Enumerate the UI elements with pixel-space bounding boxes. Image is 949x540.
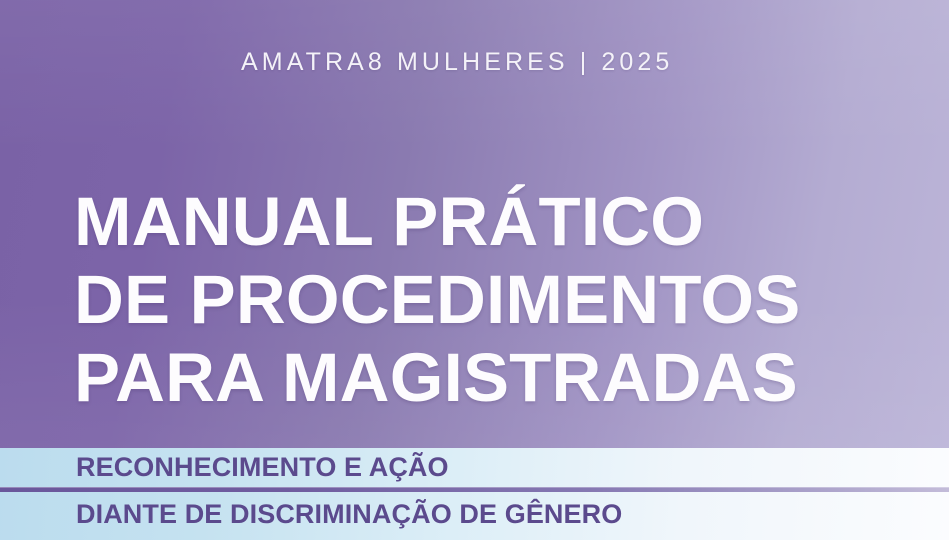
cover-title-line-3: PARA MAGISTRADAS: [74, 339, 894, 417]
divider-highlight: [0, 487, 949, 488]
cover-eyebrow-text: AMATRA8 MULHERES | 2025: [241, 48, 673, 77]
subtitle-divider-rule: [0, 487, 949, 492]
cover-subtitle-line-2: DIANTE DE DISCRIMINAÇÃO DE GÊNERO: [76, 499, 622, 530]
cover-title-line-1: MANUAL PRÁTICO: [74, 183, 894, 261]
book-cover: AMATRA8 MULHERES | 2025 MANUAL PRÁTICO D…: [0, 0, 949, 540]
cover-subtitle-line-1: RECONHECIMENTO E AÇÃO: [76, 452, 449, 483]
cover-title-block: MANUAL PRÁTICO DE PROCEDIMENTOS PARA MAG…: [74, 183, 894, 417]
cover-title-line-2: DE PROCEDIMENTOS: [74, 261, 894, 339]
